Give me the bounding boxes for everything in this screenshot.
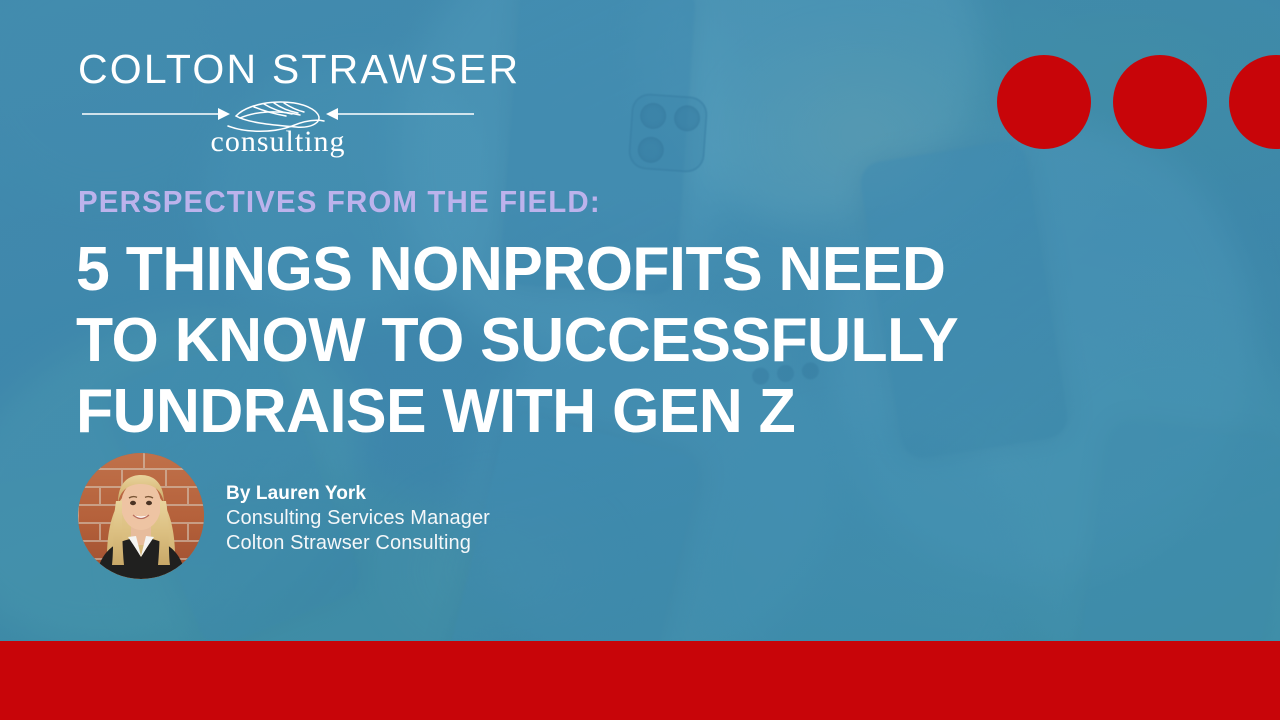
logo-divider-ornament [78, 99, 478, 133]
author-organization: Colton Strawser Consulting [226, 531, 490, 556]
decorative-dot [1113, 55, 1207, 149]
bottom-accent-bar [0, 641, 1280, 720]
author-role: Consulting Services Manager [226, 506, 490, 531]
headline-line-2: TO KNOW TO SUCCESSFULLY [76, 305, 1105, 376]
byline-text-block: By Lauren York Consulting Services Manag… [226, 477, 490, 556]
author-byline: By Lauren York Consulting Services Manag… [78, 453, 490, 579]
slide-canvas: COLTON STRAWSER [0, 0, 1280, 720]
page-title: 5 THINGS NONPROFITS NEED TO KNOW TO SUCC… [76, 234, 1126, 447]
author-name: By Lauren York [226, 481, 490, 506]
avatar [78, 453, 204, 579]
logo-wordmark: COLTON STRAWSER [78, 48, 478, 91]
headline-line-3: FUNDRAISE WITH GEN Z [76, 376, 1105, 447]
decorative-dot [997, 55, 1091, 149]
eyebrow-text: PERSPECTIVES FROM THE FIELD: [78, 184, 601, 220]
headline-line-1: 5 THINGS NONPROFITS NEED [76, 234, 1105, 305]
brand-logo[interactable]: COLTON STRAWSER [78, 48, 478, 157]
